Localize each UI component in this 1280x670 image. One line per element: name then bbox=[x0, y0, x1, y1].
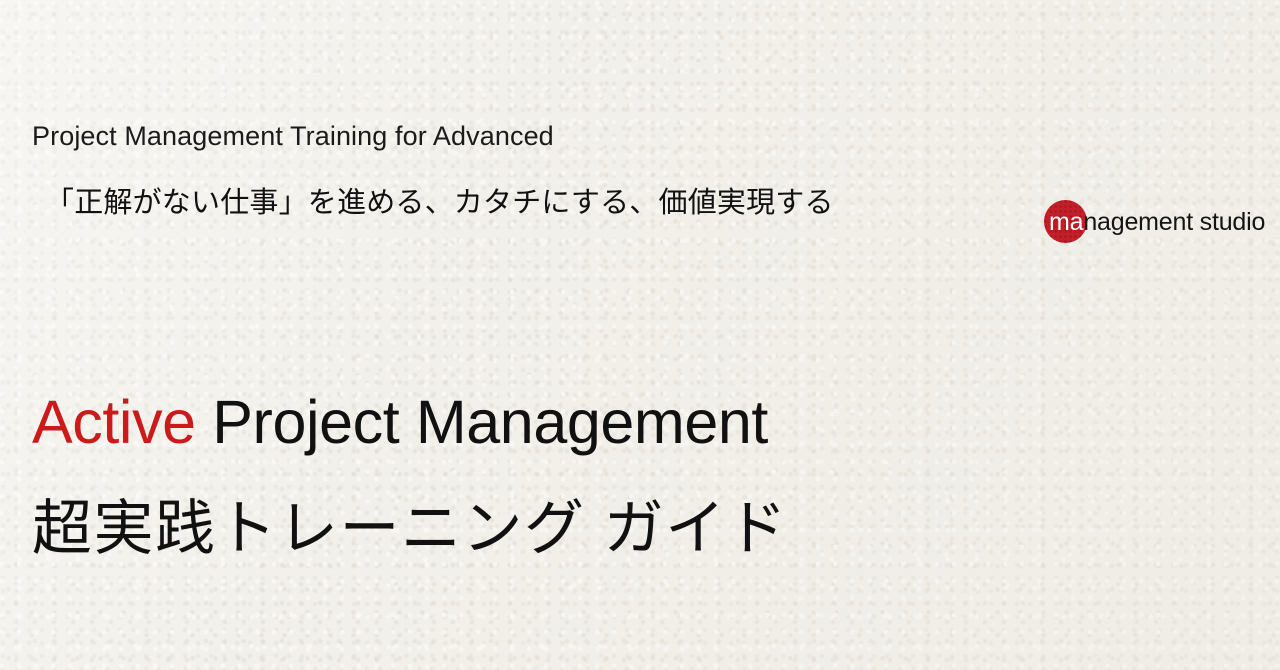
presentation-slide: Project Management Training for Advanced… bbox=[0, 0, 1280, 670]
logo-wordmark: management studio bbox=[1049, 208, 1265, 236]
eyebrow-english-line: Project Management Training for Advanced bbox=[32, 120, 992, 154]
main-title-block: Active Project Management 超実践トレーニング ガイド bbox=[32, 390, 1132, 562]
title-japanese-line: 超実践トレーニング ガイド bbox=[32, 497, 1132, 562]
logo-wordmark-lead: ma bbox=[1049, 208, 1083, 236]
header-block: Project Management Training for Advanced… bbox=[32, 120, 992, 222]
title-accent-word: Active bbox=[32, 388, 196, 456]
eyebrow-japanese-line: 「正解がない仕事」を進める、カタチにする、価値実現する bbox=[45, 185, 992, 223]
paper-texture-overlay bbox=[0, 0, 1280, 670]
title-english-rest: Project Management bbox=[196, 388, 768, 456]
management-studio-logo: management studio bbox=[1040, 196, 1262, 248]
paper-sheen-overlay bbox=[0, 0, 1280, 670]
title-english-line: Active Project Management bbox=[32, 390, 1132, 456]
logo-wordmark-rest: nagement studio bbox=[1083, 208, 1265, 236]
